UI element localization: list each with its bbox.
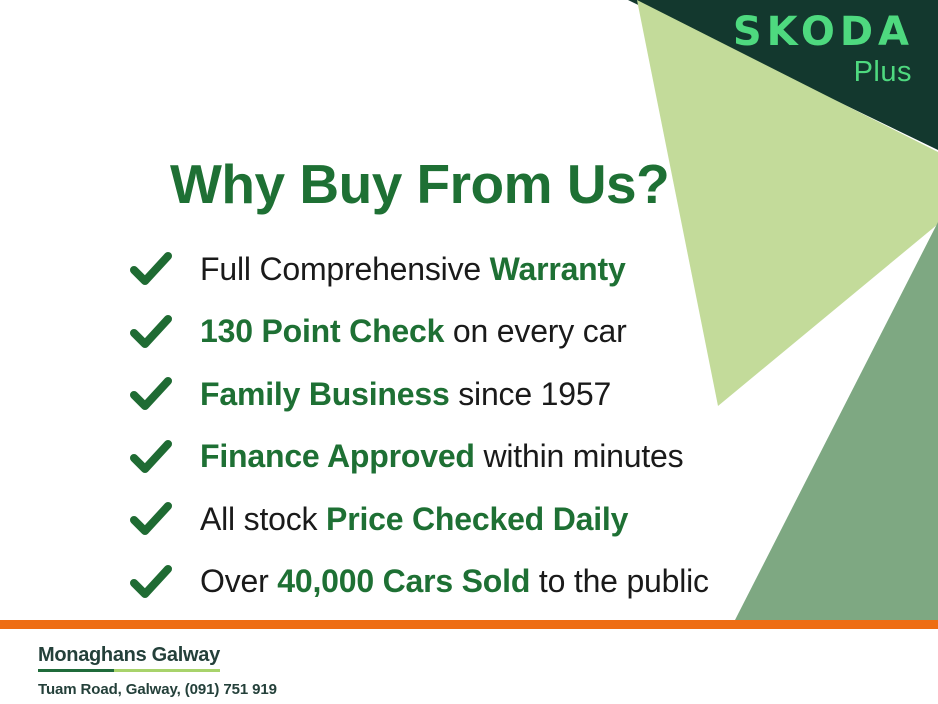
skoda-wordmark: SKODA	[733, 12, 914, 52]
list-item: Family Business since 1957	[128, 363, 709, 426]
benefit-text: Finance Approved within minutes	[200, 438, 683, 475]
list-item: Over 40,000 Cars Sold to the public	[128, 551, 709, 614]
benefit-text: Family Business since 1957	[200, 376, 611, 413]
check-icon	[128, 371, 174, 417]
check-icon	[128, 434, 174, 480]
orange-divider	[0, 620, 938, 629]
benefit-highlight: Warranty	[490, 251, 626, 287]
benefit-plain-before: All stock	[200, 501, 326, 537]
check-icon	[128, 559, 174, 605]
plus-label: Plus	[733, 58, 912, 87]
footer: Monaghans Galway Tuam Road, Galway, (091…	[38, 644, 277, 698]
list-item: 130 Point Check on every car	[128, 301, 709, 364]
benefit-plain-after: on every car	[444, 313, 626, 349]
benefit-plain-after: to the public	[530, 563, 709, 599]
benefit-text: All stock Price Checked Daily	[200, 501, 628, 538]
list-item: Finance Approved within minutes	[128, 426, 709, 489]
benefit-highlight: Finance Approved	[200, 438, 475, 474]
benefit-plain-before: Full Comprehensive	[200, 251, 490, 287]
skoda-plus-logo: SKODA Plus	[733, 12, 914, 87]
benefit-text: Over 40,000 Cars Sold to the public	[200, 563, 709, 600]
check-icon	[128, 496, 174, 542]
benefits-list: Full Comprehensive Warranty 130 Point Ch…	[128, 238, 709, 613]
page-title: Why Buy From Us?	[170, 152, 669, 216]
benefit-plain-after: within minutes	[475, 438, 684, 474]
benefit-highlight: 40,000 Cars Sold	[277, 563, 530, 599]
benefit-text: Full Comprehensive Warranty	[200, 251, 626, 288]
list-item: All stock Price Checked Daily	[128, 488, 709, 551]
dealer-address: Tuam Road, Galway, (091) 751 919	[38, 681, 277, 698]
dealer-name-text: Monaghans Galway	[38, 644, 220, 666]
underline-light-segment	[114, 669, 220, 672]
benefit-text: 130 Point Check on every car	[200, 313, 627, 350]
check-icon	[128, 309, 174, 355]
check-icon	[128, 246, 174, 292]
list-item: Full Comprehensive Warranty	[128, 238, 709, 301]
benefit-highlight: Family Business	[200, 376, 450, 412]
benefit-highlight: Price Checked Daily	[326, 501, 628, 537]
medium-green-triangle	[735, 222, 938, 620]
dealer-name: Monaghans Galway	[38, 644, 220, 672]
underline-dark-segment	[38, 669, 114, 672]
dealer-name-underline	[38, 669, 220, 672]
benefit-plain-before: Over	[200, 563, 277, 599]
promo-poster: SKODA Plus Why Buy From Us? Full Compreh…	[0, 0, 938, 704]
benefit-plain-after: since 1957	[450, 376, 611, 412]
benefit-highlight: 130 Point Check	[200, 313, 444, 349]
